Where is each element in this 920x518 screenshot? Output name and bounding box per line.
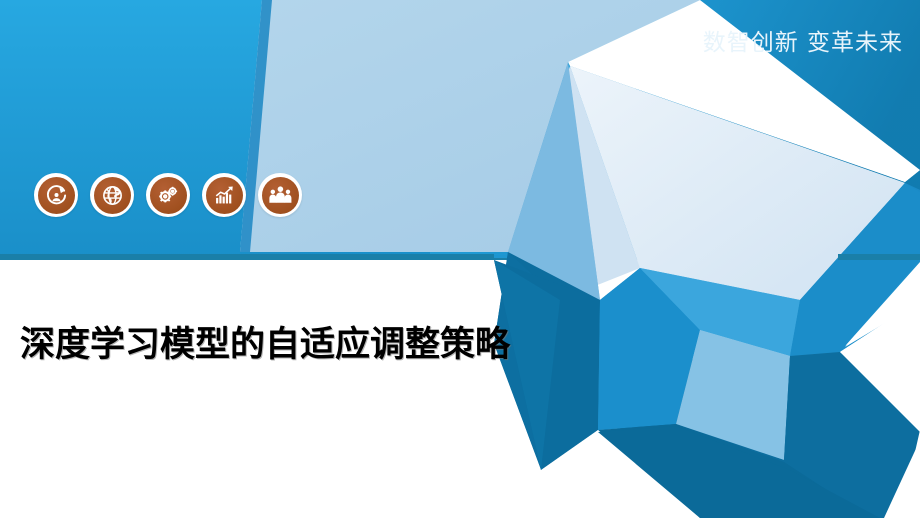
icon-badge-4[interactable] [202,173,246,217]
polygon-white-left-lower [0,260,560,518]
gears-icon [150,177,187,214]
header-band-rule-right [838,254,920,260]
bar-chart-growth-icon [206,177,243,214]
presentation-title-slide: 数智创新 变革未来 [0,0,920,518]
polygon-background-artwork [0,0,920,518]
refresh-globe-icon [38,177,75,214]
icon-strip [34,173,302,217]
tagline-text: 数智创新 变革未来 [703,28,903,58]
globe-icon [94,177,131,214]
icon-badge-3[interactable] [146,173,190,217]
header-band-rule-left [0,254,494,260]
icon-badge-5[interactable] [258,173,302,217]
icon-badge-1[interactable] [34,173,78,217]
icon-badge-2[interactable] [90,173,134,217]
team-people-icon [262,177,299,214]
page-title: 深度学习模型的自适应调整策略 [20,317,560,373]
